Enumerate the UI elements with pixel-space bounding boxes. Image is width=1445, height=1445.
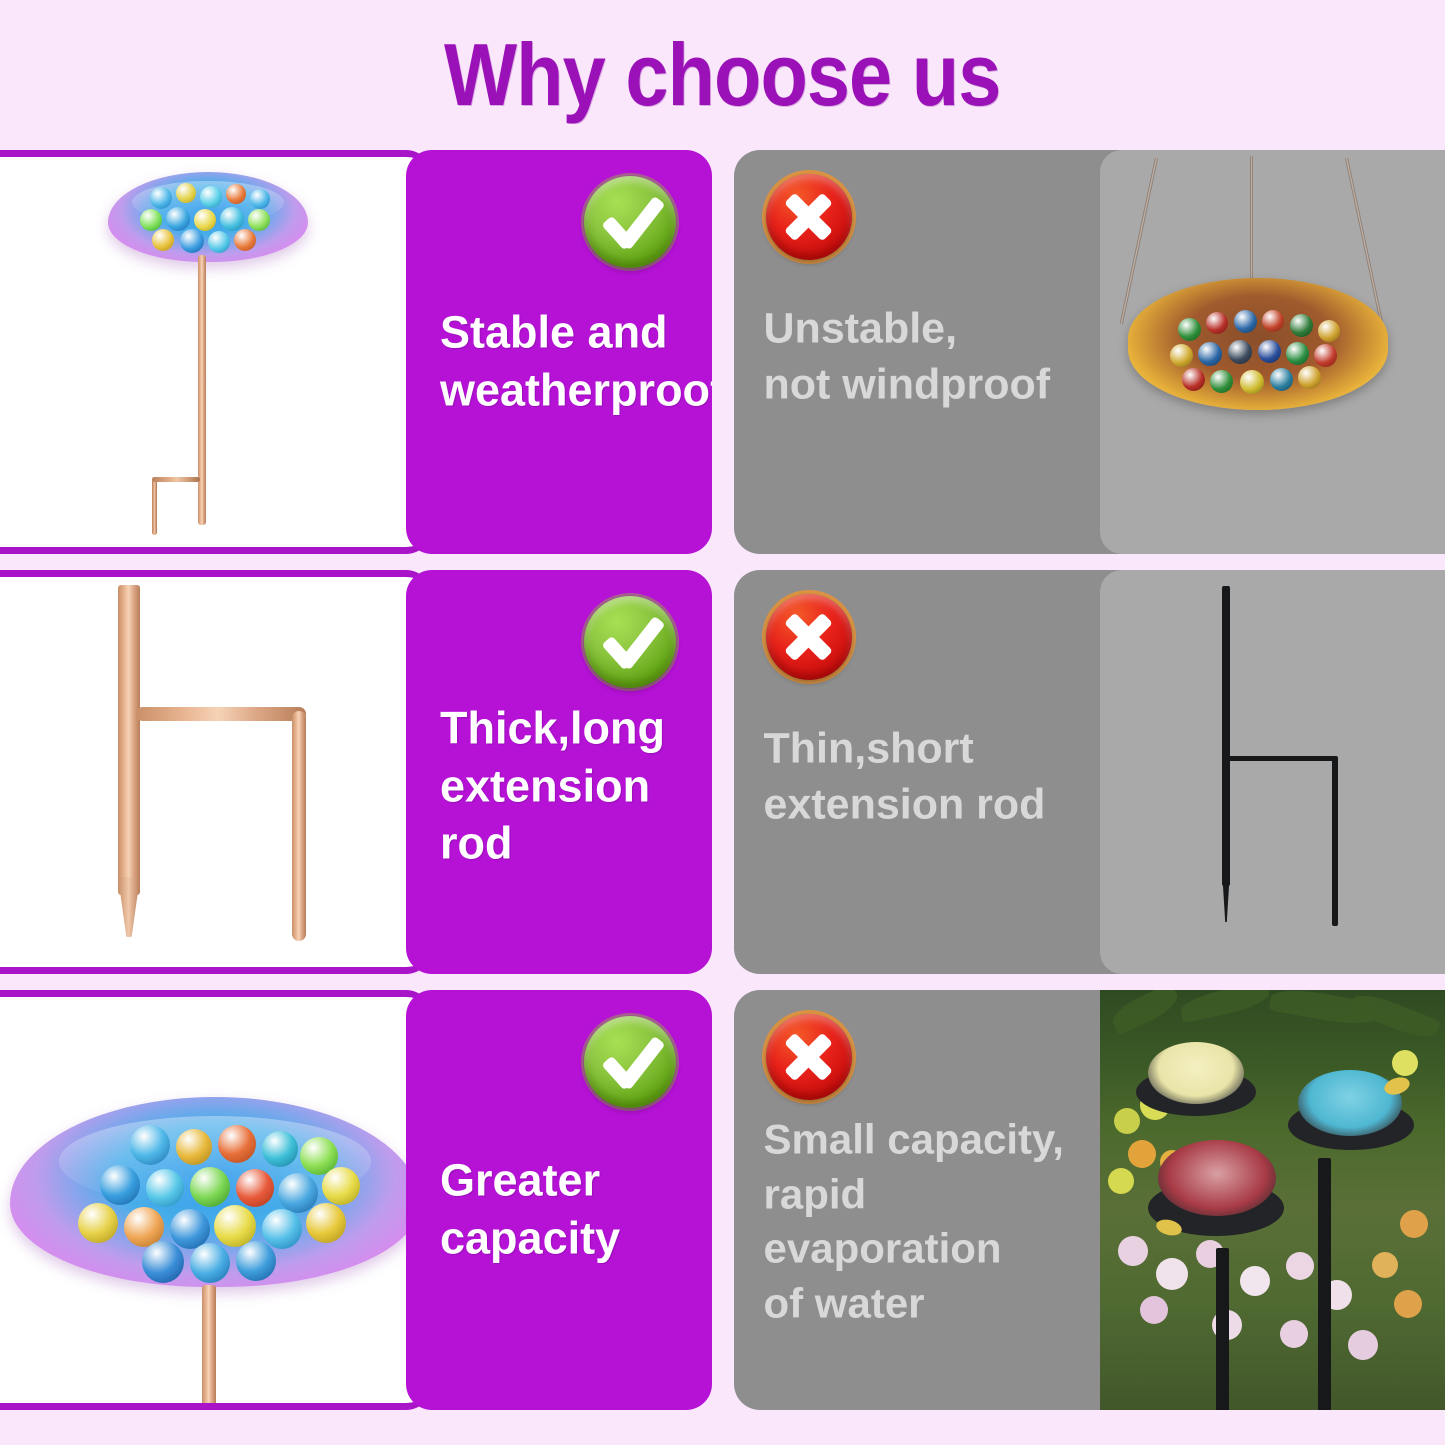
green-check-icon bbox=[584, 176, 676, 268]
con-image-3 bbox=[1100, 990, 1445, 1410]
red-cross-icon bbox=[766, 1014, 852, 1100]
page-title: Why choose us bbox=[444, 24, 1001, 126]
pro-image-1 bbox=[0, 150, 432, 554]
con-panel-1: Unstable, not windproof bbox=[734, 150, 1123, 554]
pro-panel-2: Thick,long extension rod bbox=[406, 570, 712, 974]
con-side-2: Thin,short extension rod bbox=[734, 570, 1445, 974]
garden-photo-illustration bbox=[1100, 990, 1445, 1410]
con-panel-3: Small capacity, rapid evaporation of wat… bbox=[734, 990, 1123, 1410]
pro-panel-1: Stable and weatherproof bbox=[406, 150, 712, 554]
bird-bath-stake-illustration bbox=[0, 157, 432, 547]
con-label-3: Small capacity, rapid evaporation of wat… bbox=[764, 1113, 1109, 1331]
pro-label-3: Greater capacity bbox=[440, 1152, 694, 1267]
con-side-1: Unstable, not windproof bbox=[734, 150, 1445, 554]
pro-image-2 bbox=[0, 570, 432, 974]
pro-label-1: Stable and weatherproof bbox=[440, 304, 694, 419]
pro-side-2: Thick,long extension rod bbox=[0, 570, 712, 974]
con-side-3: Small capacity, rapid evaporation of wat… bbox=[734, 990, 1445, 1410]
comparison-rows: Stable and weatherproof Unstable, not wi… bbox=[0, 150, 1445, 1410]
pro-image-3 bbox=[0, 990, 432, 1410]
comparison-row-3: Greater capacity Small capacity, rapid e… bbox=[0, 990, 1445, 1410]
thick-copper-rod-illustration bbox=[0, 577, 432, 967]
red-cross-icon bbox=[766, 594, 852, 680]
pro-side-3: Greater capacity bbox=[0, 990, 712, 1410]
pro-label-2: Thick,long extension rod bbox=[440, 699, 694, 872]
green-check-icon bbox=[584, 1016, 676, 1108]
con-image-1 bbox=[1100, 150, 1445, 554]
green-check-icon bbox=[584, 596, 676, 688]
comparison-row-2: Thick,long extension rod Thin,short exte… bbox=[0, 570, 1445, 974]
large-marble-bowl-illustration bbox=[0, 997, 432, 1403]
con-panel-2: Thin,short extension rod bbox=[734, 570, 1123, 974]
infographic-page: Why choose us bbox=[0, 0, 1445, 1445]
comparison-row-1: Stable and weatherproof Unstable, not wi… bbox=[0, 150, 1445, 554]
con-image-2 bbox=[1100, 570, 1445, 974]
pro-side-1: Stable and weatherproof bbox=[0, 150, 712, 554]
con-label-1: Unstable, not windproof bbox=[764, 302, 1109, 414]
page-title-container: Why choose us bbox=[0, 0, 1445, 150]
red-cross-icon bbox=[766, 174, 852, 260]
pro-panel-3: Greater capacity bbox=[406, 990, 712, 1410]
hanging-bird-bath-illustration bbox=[1100, 150, 1445, 554]
con-label-2: Thin,short extension rod bbox=[764, 722, 1109, 834]
thin-black-rod-illustration bbox=[1100, 570, 1445, 974]
